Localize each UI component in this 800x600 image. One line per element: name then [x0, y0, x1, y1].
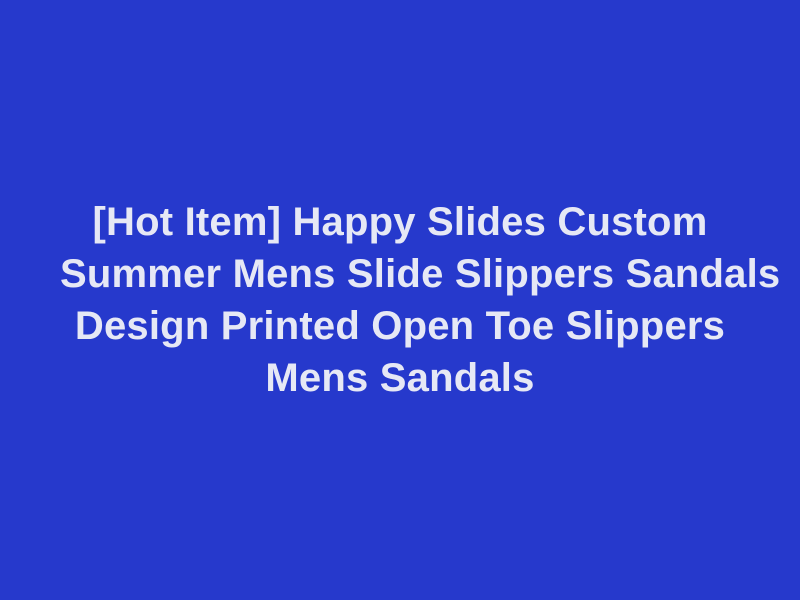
product-title: [Hot Item] Happy Slides Custom Summer Me…	[50, 196, 750, 404]
product-title-line-4: Mens Sandals	[60, 352, 740, 404]
product-title-line-2: Summer Mens Slide Slippers Sandals	[60, 248, 740, 300]
placeholder-image-canvas: [Hot Item] Happy Slides Custom Summer Me…	[0, 0, 800, 600]
product-title-line-1: [Hot Item] Happy Slides Custom	[60, 196, 740, 248]
product-title-line-3: Design Printed Open Toe Slippers	[60, 300, 740, 352]
